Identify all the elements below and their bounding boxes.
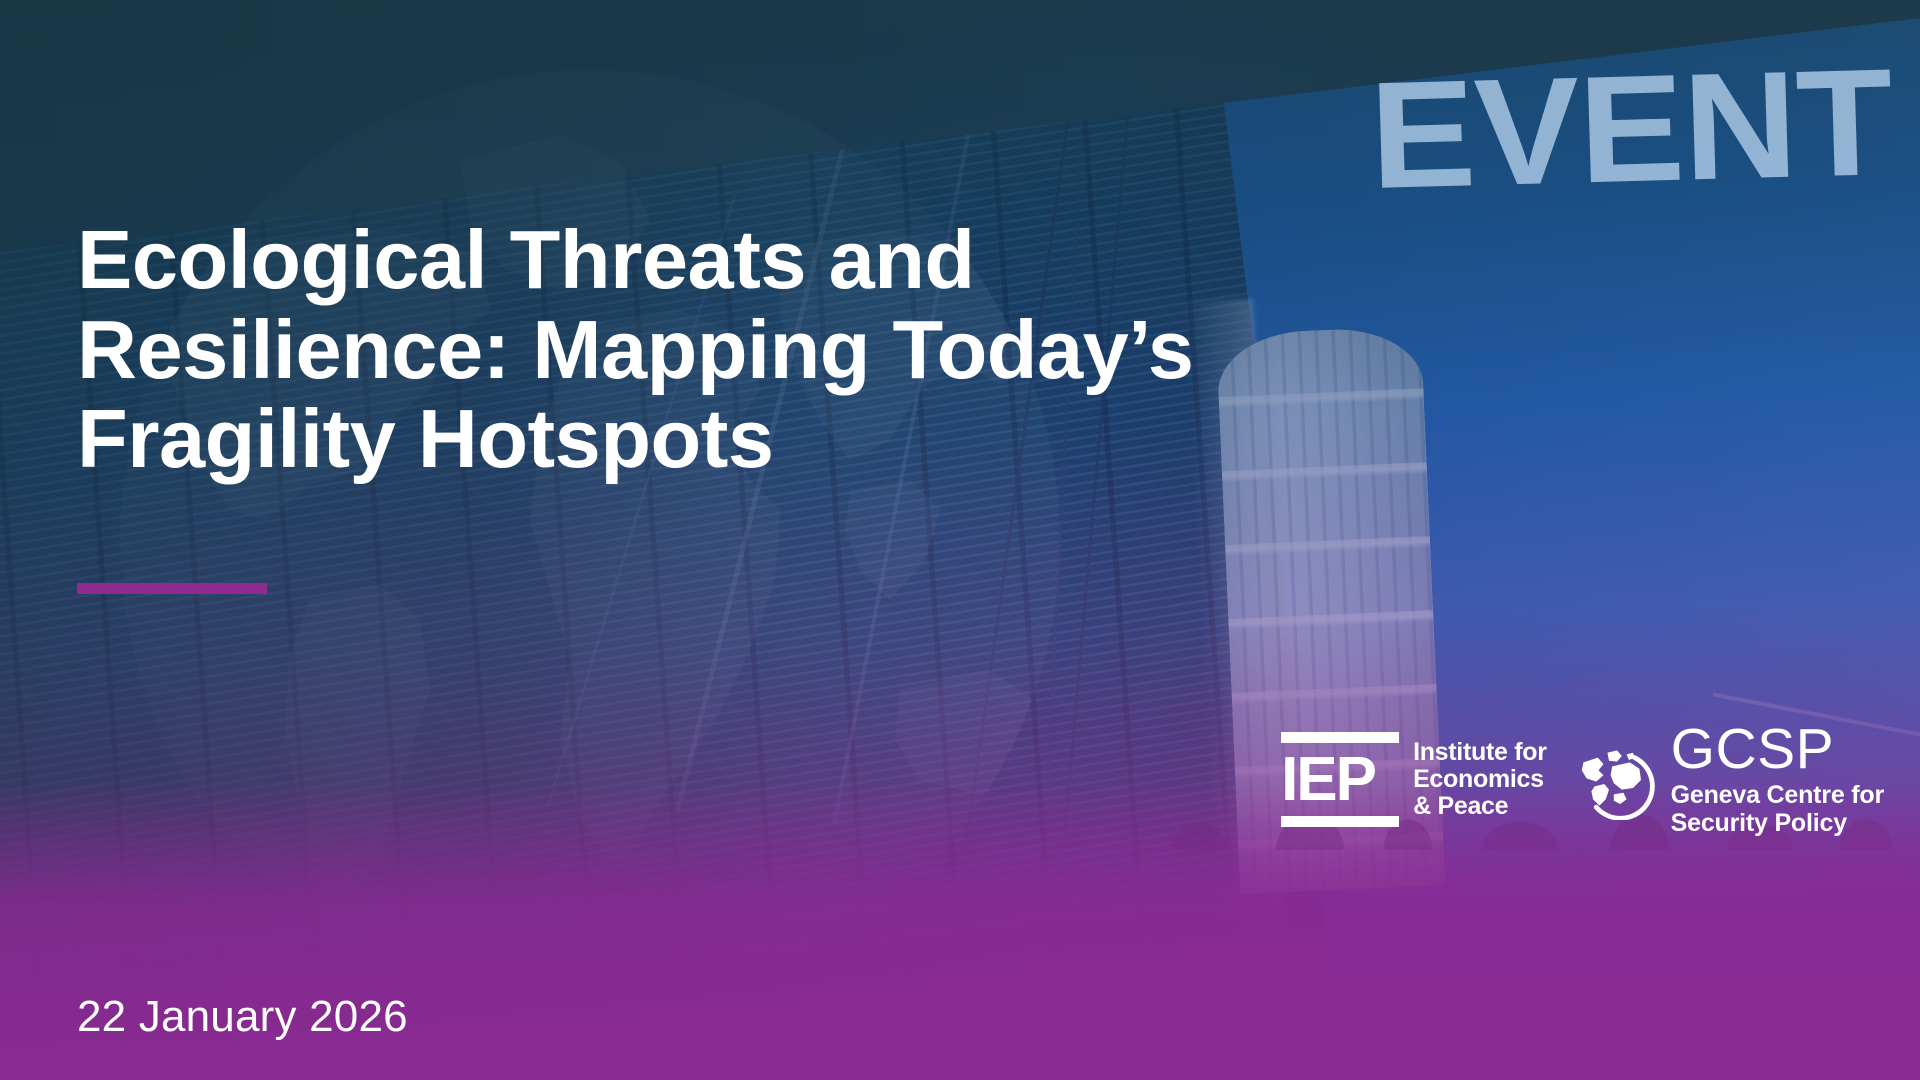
accent-bar [77, 583, 267, 594]
globe-icon [1577, 740, 1657, 820]
gcsp-initials: GCSP [1671, 722, 1884, 778]
gcsp-text: GCSP Geneva Centre for Security Policy [1671, 722, 1884, 838]
iep-bottom-bar [1281, 816, 1399, 827]
page-title: Ecological Threats and Resilience: Mappi… [77, 215, 1497, 484]
iep-logo[interactable]: IEP Institute for Economics & Peace [1281, 732, 1547, 827]
event-banner: EVENT Ecological Threats and Resilience:… [0, 0, 1920, 1080]
iep-initials: IEP [1281, 751, 1399, 808]
iep-top-bar [1281, 732, 1399, 743]
event-date: 22 January 2026 [77, 992, 408, 1042]
gcsp-logo[interactable]: GCSP Geneva Centre for Security Policy [1577, 722, 1884, 838]
iep-wordmark: Institute for Economics & Peace [1413, 739, 1547, 820]
event-kicker: EVENT [1368, 46, 1894, 212]
gcsp-wordmark: Geneva Centre for Security Policy [1671, 781, 1884, 838]
iep-mark: IEP [1281, 732, 1399, 827]
logo-group: IEP Institute for Economics & Peace [1281, 722, 1884, 838]
